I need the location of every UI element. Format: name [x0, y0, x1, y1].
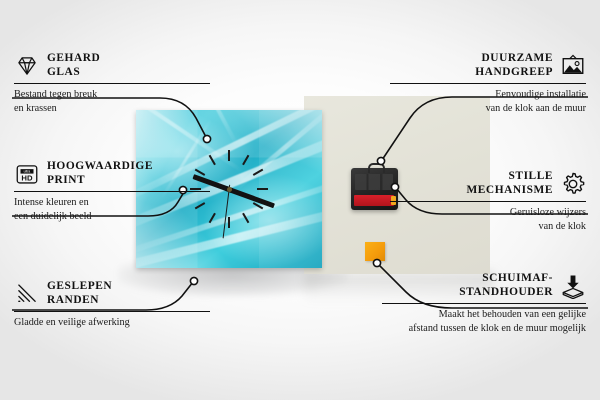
infographic-canvas: GEHARD GLAS Bestand tegen breuk en krass…	[0, 0, 600, 400]
foam-spacer-press-icon	[560, 273, 586, 299]
feature-heading: SCHUIMAF- STANDHOUDER	[382, 272, 586, 300]
feature-description: Gladde en veilige afwerking	[14, 316, 210, 329]
feature-divider	[14, 191, 210, 192]
picture-frame-hanger-icon	[560, 53, 586, 79]
feature-hoogwaardige-print: ultra HD HOOGWAARDIGE PRINT Intense kleu…	[14, 160, 210, 223]
foam-spacer	[365, 242, 385, 261]
clock-center-cap	[227, 187, 232, 192]
feature-heading: STILLE MECHANISME	[390, 170, 586, 198]
feature-title: GESLEPEN RANDEN	[47, 280, 210, 308]
svg-text:HD: HD	[21, 173, 33, 182]
feature-heading: GESLEPEN RANDEN	[14, 280, 210, 308]
feature-schuimafstandhouder: SCHUIMAF- STANDHOUDER Maakt het behouden…	[382, 272, 586, 335]
feature-divider	[382, 303, 586, 304]
bevelled-edge-icon	[14, 281, 40, 307]
feature-divider	[14, 311, 210, 312]
feature-title: GEHARD GLAS	[47, 52, 210, 80]
mechanism-panel	[355, 174, 393, 190]
feature-gehard-glas: GEHARD GLAS Bestand tegen breuk en krass…	[14, 52, 210, 115]
ultra-hd-icon: ultra HD	[14, 161, 40, 187]
feature-description: Bestand tegen breuk en krassen	[14, 88, 210, 115]
feature-divider	[390, 83, 586, 84]
battery	[354, 195, 394, 206]
feature-title: DUURZAME HANDGREEP	[390, 52, 553, 80]
feature-duurzame-handgreep: DUURZAME HANDGREEP Eenvoudige installati…	[390, 52, 586, 115]
feature-description: Maakt het behouden van een gelijke afsta…	[382, 308, 586, 335]
feature-title: SCHUIMAF- STANDHOUDER	[382, 272, 553, 300]
feature-description: Eenvoudige installatie van de klok aan d…	[390, 88, 586, 115]
feature-divider	[14, 83, 210, 84]
feature-heading: DUURZAME HANDGREEP	[390, 52, 586, 80]
feature-title: STILLE MECHANISME	[390, 170, 553, 198]
feature-stille-mechanisme: STILLE MECHANISME Geruisloze wijzers van…	[390, 170, 586, 233]
gear-icon	[560, 171, 586, 197]
feature-divider	[390, 201, 586, 202]
feature-heading: GEHARD GLAS	[14, 52, 210, 80]
mechanism-hanger-icon	[368, 163, 385, 173]
diamond-icon	[14, 53, 40, 79]
feature-geslepen-randen: GESLEPEN RANDEN Gladde en veilige afwerk…	[14, 280, 210, 330]
feature-title: HOOGWAARDIGE PRINT	[47, 160, 210, 188]
feature-heading: ultra HD HOOGWAARDIGE PRINT	[14, 160, 210, 188]
feature-description: Geruisloze wijzers van de klok	[390, 206, 586, 233]
feature-description: Intense kleuren en een duidelijk beeld	[14, 196, 210, 223]
